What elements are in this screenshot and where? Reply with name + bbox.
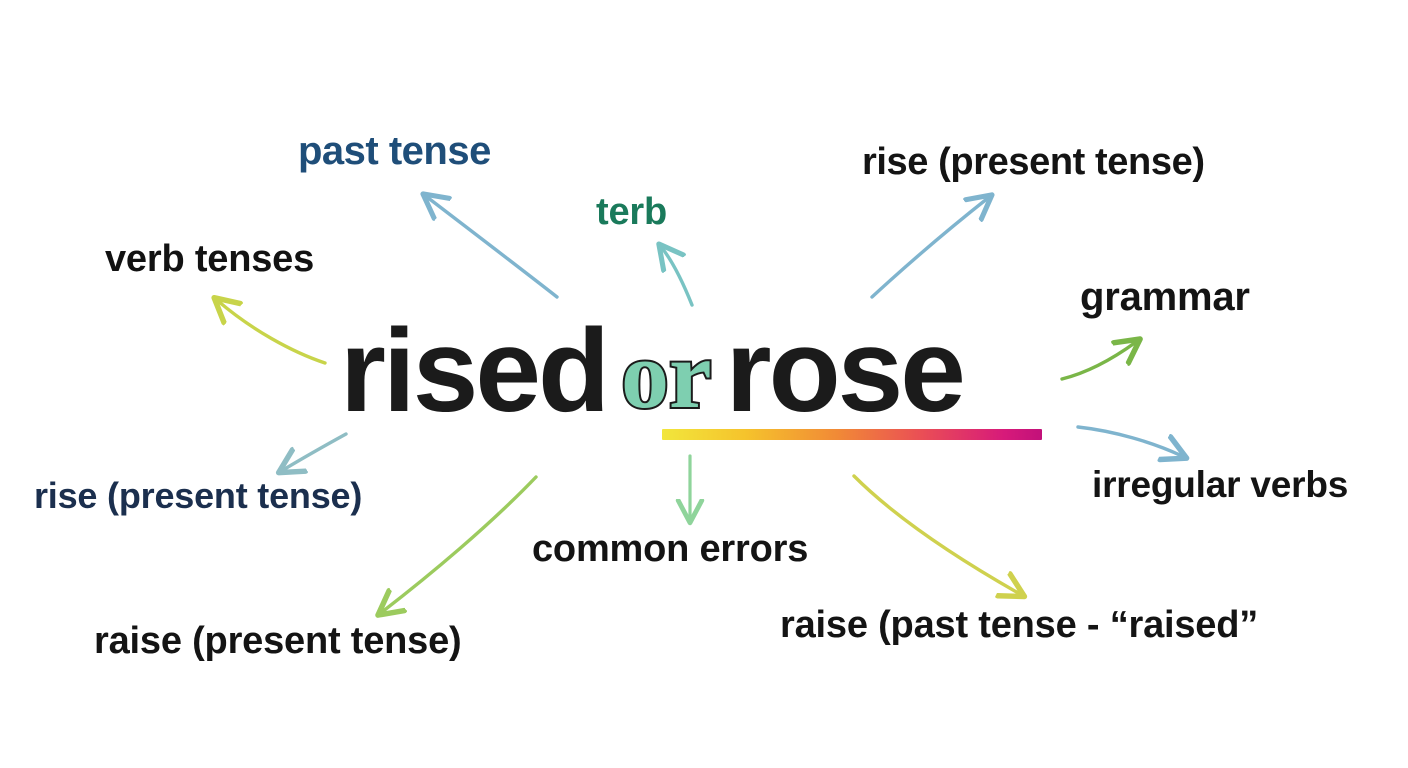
node-label-rise-present-tense-left[interactable]: rise (present tense)	[34, 478, 362, 514]
arrow-to-rise-present-top	[872, 198, 988, 297]
node-label-common-errors[interactable]: common errors	[532, 530, 808, 568]
arrow-to-terb	[662, 248, 692, 305]
node-label-raise-past-tense-raised[interactable]: raise (past tense - “raised”	[780, 606, 1258, 644]
arrow-to-raise-present	[382, 477, 536, 612]
node-label-grammar[interactable]: grammar	[1080, 277, 1250, 317]
gradient-underline	[662, 429, 1042, 440]
arrow-to-past-tense	[427, 197, 557, 297]
node-label-past-tense[interactable]: past tense	[298, 131, 491, 171]
node-label-irregular-verbs[interactable]: irregular verbs	[1092, 466, 1348, 503]
title-word-right: rose	[726, 312, 963, 430]
node-label-rise-present-tense-top[interactable]: rise (present tense)	[862, 143, 1205, 181]
title-conjunction: or	[621, 319, 712, 430]
center-title: rised or rose	[340, 312, 963, 432]
diagram-canvas: rised or rose past tense verb tenses ter…	[0, 0, 1408, 768]
node-label-raise-present-tense[interactable]: raise (present tense)	[94, 622, 462, 660]
arrow-to-grammar	[1062, 342, 1136, 379]
title-word-left: rised	[340, 312, 607, 430]
arrow-to-rise-present-left	[283, 434, 346, 470]
arrow-to-raise-past	[854, 476, 1020, 594]
node-label-verb-tenses[interactable]: verb tenses	[105, 240, 314, 278]
arrow-to-verb-tenses	[218, 301, 325, 363]
node-label-terb[interactable]: terb	[596, 193, 667, 231]
arrow-to-irregular-verbs	[1078, 427, 1182, 456]
